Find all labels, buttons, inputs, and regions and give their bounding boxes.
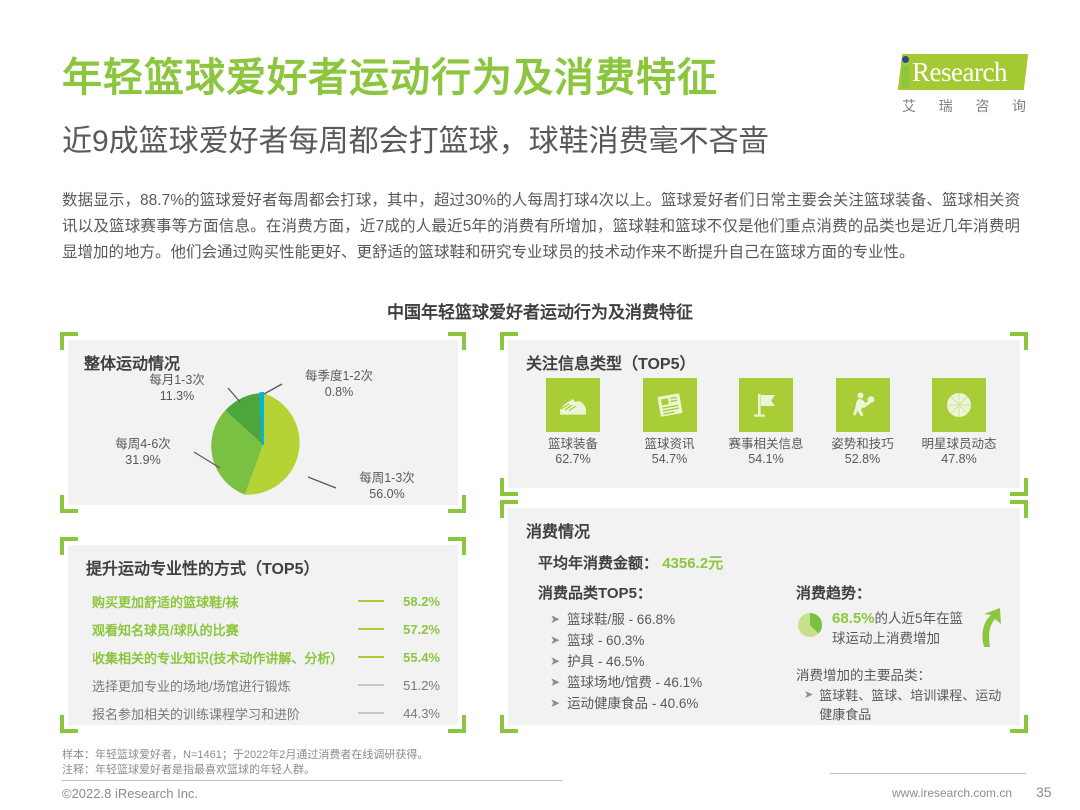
improve-row-dash [299, 684, 384, 686]
corner-bracket-br [1010, 715, 1028, 733]
logo-wordmark: Research [912, 57, 1007, 88]
info-item-stars: 明星球员动态 47.8% [916, 378, 1002, 467]
increase-categories-heading: 消费增加的主要品类： [796, 664, 1006, 684]
copyright-text: ©2022.8 iResearch Inc. [62, 786, 198, 801]
corner-bracket-br [1010, 478, 1028, 496]
average-spend-label: 平均年消费金额： [538, 555, 658, 572]
improve-row: 收集相关的专业知识(技术动作讲解、分析） 55.4% [92, 643, 440, 671]
info-type-icon-row: 篮球装备 62.7% [530, 378, 1002, 467]
info-item-label: 姿势和技巧 [820, 437, 906, 452]
shoe-icon-svg [556, 388, 590, 422]
chevron-right-icon: ➤ [550, 609, 560, 630]
flag-icon-svg [749, 388, 783, 422]
pie-chart: 每月1-3次 11.3% 每季度1-2次 0.8% 每周4-6次 31.9% 每… [68, 340, 458, 505]
pie-label-weekly-4-6: 每周4-6次 31.9% [94, 436, 192, 468]
corner-bracket-tr [1010, 332, 1028, 350]
logo-cn-char-3: 咨 [975, 96, 989, 116]
info-item-label: 篮球装备 [530, 437, 616, 452]
definition-note: 注释：年轻篮球爱好者是指最喜欢篮球的年轻人群。 [62, 763, 428, 778]
logo-cn-char-2: 瑞 [939, 96, 953, 116]
newspaper-icon-svg [653, 388, 687, 422]
card-heading-info-types: 关注信息类型（TOP5） [526, 350, 696, 374]
page-number: 35 [1036, 784, 1052, 800]
mini-pie-icon [796, 611, 824, 644]
consumption-categories-heading: 消费品类TOP5： [538, 582, 788, 603]
card-improve-methods: 提升运动专业性的方式（TOP5） 购买更加舒适的篮球鞋/袜 58.2% 观看知名… [68, 545, 458, 725]
up-arrow-icon-svg [976, 607, 1006, 647]
average-spend-line: 平均年消费金额： 4356.2元 [538, 552, 723, 573]
trend-percent: 68.5% [832, 610, 875, 627]
corner-bracket-bl [500, 715, 518, 733]
improve-row-label: 报名参加相关的训练课程学习和进阶 [92, 704, 300, 723]
chevron-right-icon: ➤ [550, 672, 560, 693]
page-title: 年轻篮球爱好者运动行为及消费特征 [62, 56, 718, 100]
trend-block: 68.5%的人近5年在篮球运动上消费增加 [796, 609, 1006, 652]
footer-divider-right [830, 773, 1026, 774]
corner-bracket-tl [500, 332, 518, 350]
consumption-category-label: 运动健康食品 - 40.6% [567, 693, 698, 714]
consumption-category-item: ➤ 运动健康食品 - 40.6% [550, 693, 788, 714]
improve-row: 选择更加专业的场地/场馆进行锻炼 51.2% [92, 671, 440, 699]
consumption-category-label: 篮球鞋/服 - 66.8% [567, 609, 675, 630]
info-item-value: 54.1% [723, 452, 809, 467]
improve-row-label: 观看知名球员/球队的比赛 [92, 620, 239, 639]
logo-i-stem-icon [902, 66, 909, 88]
info-item-label: 篮球资讯 [627, 437, 713, 452]
card-heading-improve: 提升运动专业性的方式（TOP5） [86, 555, 320, 579]
increase-category-label: 篮球鞋、篮球、培训课程、运动健康食品 [819, 686, 1006, 724]
website-url: www.iresearch.com.cn [892, 786, 1012, 800]
page-subtitle: 近9成篮球爱好者每周都会打篮球，球鞋消费毫不吝啬 [62, 124, 769, 160]
pie-label-monthly-1-3: 每月1-3次 11.3% [128, 372, 226, 404]
card-consumption: 消费情况 平均年消费金额： 4356.2元 消费品类TOP5： ➤ 篮球鞋/服 … [508, 508, 1020, 725]
improve-row: 购买更加舒适的篮球鞋/袜 58.2% [92, 587, 440, 615]
info-item-skills: 姿势和技巧 52.8% [820, 378, 906, 467]
consumption-trend-heading: 消费趋势： [796, 582, 1006, 603]
chevron-right-icon: ➤ [550, 651, 560, 672]
improve-row-label: 收集相关的专业知识(技术动作讲解、分析） [92, 648, 343, 667]
chart-title: 中国年轻篮球爱好者运动行为及消费特征 [0, 298, 1080, 323]
pie-label-quarterly-1-2: 每季度1-2次 0.8% [284, 368, 394, 400]
improve-list: 购买更加舒适的篮球鞋/袜 58.2% 观看知名球员/球队的比赛 57.2% 收集… [92, 587, 440, 727]
corner-bracket-tr [448, 537, 466, 555]
flag-icon [739, 378, 793, 432]
logo-cn-char-4: 询 [1012, 96, 1026, 116]
chevron-right-icon: ➤ [804, 686, 813, 705]
improve-row-label: 选择更加专业的场地/场馆进行锻炼 [92, 676, 291, 695]
info-item-label: 赛事相关信息 [723, 437, 809, 452]
increase-category-item: ➤ 篮球鞋、篮球、培训课程、运动健康食品 [804, 686, 1006, 724]
consumption-category-item: ➤ 篮球 - 60.3% [550, 630, 788, 651]
consumption-category-label: 篮球场地/馆费 - 46.1% [567, 672, 702, 693]
info-item-equipment: 篮球装备 62.7% [530, 378, 616, 467]
basketball-icon-svg [942, 388, 976, 422]
card-info-types: 关注信息类型（TOP5） 篮球装备 62.7% [508, 340, 1020, 488]
consumption-trend-column: 消费趋势： 68.5%的人近5年在篮球运动上消费增加 消费增加 [796, 582, 1006, 724]
consumption-categories-column: 消费品类TOP5： ➤ 篮球鞋/服 - 66.8% ➤ 篮球 - 60.3% ➤… [538, 582, 788, 714]
corner-bracket-tl [60, 537, 78, 555]
improve-row-value: 44.3% [392, 706, 440, 721]
info-item-value: 52.8% [820, 452, 906, 467]
pie-label-weekly-1-3: 每周1-3次 56.0% [338, 470, 436, 502]
card-heading-consumption: 消费情况 [526, 518, 590, 542]
improve-row-value: 58.2% [392, 594, 440, 609]
up-arrow-icon [976, 607, 1006, 652]
info-item-value: 54.7% [627, 452, 713, 467]
player-icon-svg [846, 388, 880, 422]
newspaper-icon [643, 378, 697, 432]
info-item-label: 明星球员动态 [916, 437, 1002, 452]
footnotes: 样本：年轻篮球爱好者，N=1461；于2022年2月通过消费者在线调研获得。 注… [62, 748, 428, 778]
consumption-category-label: 护具 - 46.5% [567, 651, 644, 672]
corner-bracket-tl [500, 500, 518, 518]
improve-row-dash [247, 628, 384, 630]
corner-bracket-bl [60, 715, 78, 733]
player-icon [836, 378, 890, 432]
improve-row: 报名参加相关的训练课程学习和进阶 44.3% [92, 699, 440, 727]
trend-text: 68.5%的人近5年在篮球运动上消费增加 [832, 609, 972, 649]
shoe-icon [546, 378, 600, 432]
chevron-right-icon: ➤ [550, 630, 560, 651]
consumption-category-label: 篮球 - 60.3% [567, 630, 644, 651]
improve-row-value: 55.4% [392, 650, 440, 665]
logo-mark: Research [886, 52, 1026, 92]
improve-row-value: 57.2% [392, 622, 440, 637]
logo-chinese-name: 艾 瑞 咨 询 [902, 96, 1026, 116]
improve-row-dash [351, 656, 384, 658]
card-overall-exercise: 整体运动情况 每月1-3次 11.3% [68, 340, 458, 505]
mini-pie-icon-svg [796, 611, 824, 639]
info-item-value: 62.7% [530, 452, 616, 467]
consumption-category-item: ➤ 篮球鞋/服 - 66.8% [550, 609, 788, 630]
corner-bracket-tr [1010, 500, 1028, 518]
pie-leader-quarterly [264, 384, 282, 394]
footer-divider-left [62, 780, 562, 781]
improve-row-dash [247, 600, 384, 602]
sample-note: 样本：年轻篮球爱好者，N=1461；于2022年2月通过消费者在线调研获得。 [62, 748, 428, 763]
basketball-icon [932, 378, 986, 432]
consumption-category-item: ➤ 护具 - 46.5% [550, 651, 788, 672]
corner-bracket-br [448, 715, 466, 733]
info-item-value: 47.8% [916, 452, 1002, 467]
average-spend-value: 4356.2元 [662, 555, 723, 572]
corner-bracket-bl [500, 478, 518, 496]
consumption-category-item: ➤ 篮球场地/馆费 - 46.1% [550, 672, 788, 693]
logo-cn-char-1: 艾 [902, 96, 916, 116]
info-item-news: 篮球资讯 54.7% [627, 378, 713, 467]
pie-leader-weekly13 [308, 477, 336, 488]
info-item-events: 赛事相关信息 54.1% [723, 378, 809, 467]
slide-page: 年轻篮球爱好者运动行为及消费特征 近9成篮球爱好者每周都会打篮球，球鞋消费毫不吝… [0, 0, 1080, 810]
improve-row-label: 购买更加舒适的篮球鞋/袜 [92, 592, 239, 611]
iresearch-logo: Research 艾 瑞 咨 询 [886, 52, 1026, 114]
chevron-right-icon: ➤ [550, 693, 560, 714]
logo-i-dot-icon [902, 56, 909, 63]
improve-row-value: 51.2% [392, 678, 440, 693]
improve-row: 观看知名球员/球队的比赛 57.2% [92, 615, 440, 643]
pie-leader-monthly [228, 388, 240, 402]
improve-row-dash [308, 712, 384, 714]
lead-paragraph: 数据显示，88.7%的篮球爱好者每周都会打球，其中，超过30%的人每周打球4次以… [62, 188, 1020, 266]
